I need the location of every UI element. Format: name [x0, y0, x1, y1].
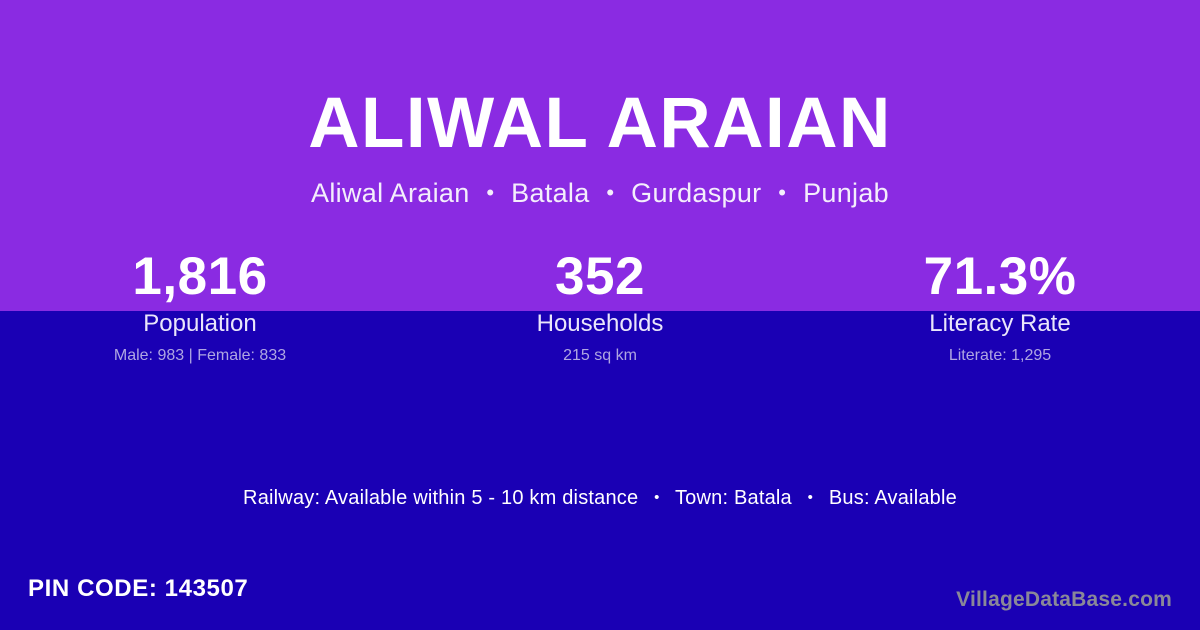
- info-railway: Railway: Available within 5 - 10 km dist…: [243, 487, 638, 509]
- stat-label: Literacy Rate: [800, 310, 1200, 338]
- bullet-separator-icon: •: [778, 180, 786, 205]
- breadcrumb-district: Gurdaspur: [631, 178, 761, 208]
- breadcrumb-tehsil: Batala: [511, 178, 589, 208]
- stat-population: 1,816 Population Male: 983 | Female: 833: [0, 246, 400, 366]
- stat-label: Households: [400, 310, 800, 338]
- stat-value: 1,816: [0, 246, 400, 308]
- info-bus: Bus: Available: [829, 487, 957, 509]
- page-title: ALIWAL ARAIAN: [0, 88, 1200, 159]
- stat-value: 352: [400, 246, 800, 308]
- stat-households: 352 Households 215 sq km: [400, 246, 800, 366]
- stat-value: 71.3%: [800, 246, 1200, 308]
- amenities-info-line: Railway: Available within 5 - 10 km dist…: [0, 487, 1200, 510]
- breadcrumb: Aliwal Araian • Batala • Gurdaspur • Pun…: [0, 178, 1200, 209]
- bullet-separator-icon: •: [654, 489, 659, 506]
- pin-code: PIN CODE: 143507: [28, 575, 248, 603]
- stat-label: Population: [0, 310, 400, 338]
- bullet-separator-icon: •: [606, 180, 614, 205]
- breadcrumb-village: Aliwal Araian: [311, 178, 469, 208]
- site-watermark: VillageDataBase.com: [956, 588, 1172, 612]
- stat-sublabel: Literate: 1,295: [800, 346, 1200, 366]
- info-town: Town: Batala: [675, 487, 792, 509]
- stat-literacy-rate: 71.3% Literacy Rate Literate: 1,295: [800, 246, 1200, 366]
- bullet-separator-icon: •: [486, 180, 494, 205]
- bullet-separator-icon: •: [808, 489, 813, 506]
- stats-row: 1,816 Population Male: 983 | Female: 833…: [0, 246, 1200, 366]
- stat-sublabel: 215 sq km: [400, 346, 800, 366]
- breadcrumb-state: Punjab: [803, 178, 889, 208]
- village-info-card: ALIWAL ARAIAN Aliwal Araian • Batala • G…: [0, 0, 1200, 630]
- card-header: ALIWAL ARAIAN Aliwal Araian • Batala • G…: [0, 0, 1200, 209]
- stat-sublabel: Male: 983 | Female: 833: [0, 346, 400, 366]
